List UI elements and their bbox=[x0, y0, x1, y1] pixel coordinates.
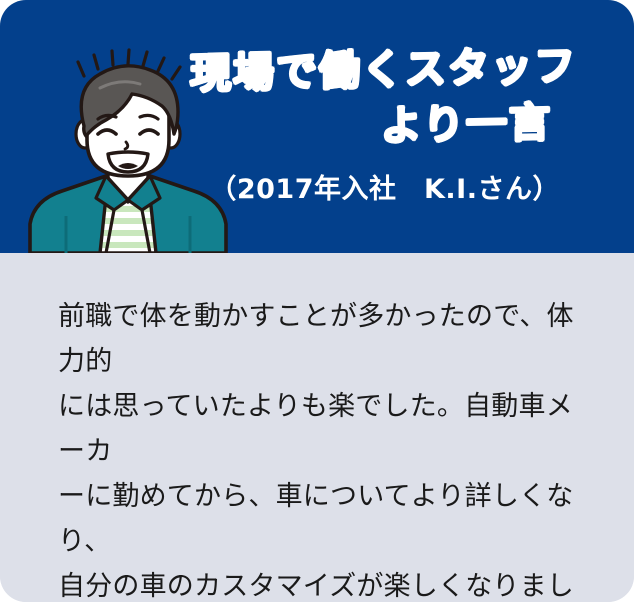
title-line-1: 現場で働くスタッフ bbox=[190, 38, 562, 102]
testimonial-text: 前職で体を動かすことが多かったので、体力的 には思っていたよりも楽でした。自動車… bbox=[58, 294, 578, 602]
header-subtitle: （2017年入社 K.I.さん） bbox=[190, 167, 560, 206]
header-title: 現場で働くスタッフ より一言 bbox=[190, 42, 562, 154]
card-body: 前職で体を動かすことが多かったので、体力的 には思っていたよりも楽でした。自動車… bbox=[0, 253, 634, 602]
title-line-2: より一言 bbox=[190, 94, 562, 158]
card-header: 現場で働くスタッフ より一言 （2017年入社 K.I.さん） bbox=[0, 0, 634, 253]
staff-voice-card: 現場で働くスタッフ より一言 （2017年入社 K.I.さん） 前職で体を動かす… bbox=[0, 0, 634, 602]
